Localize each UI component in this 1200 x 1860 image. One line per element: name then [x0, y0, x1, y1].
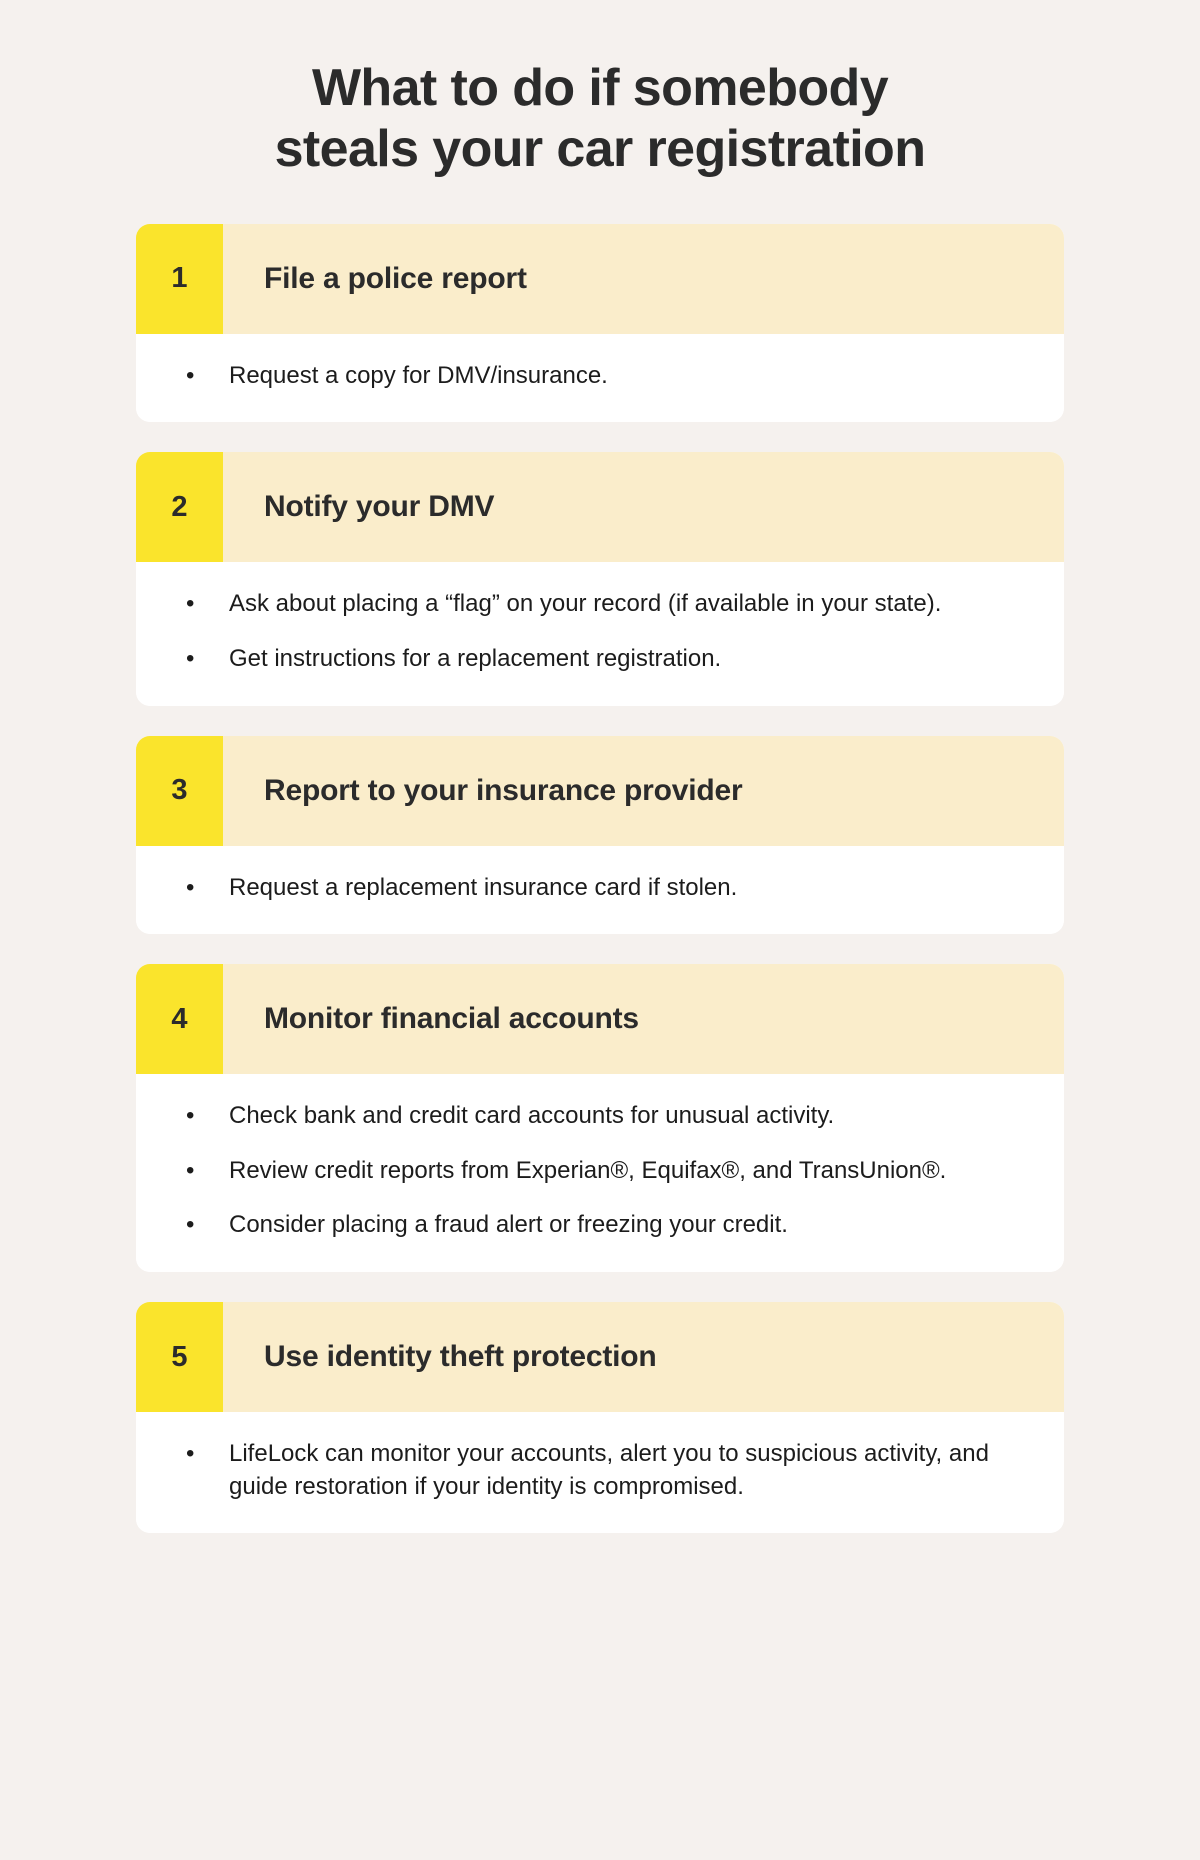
step-number-badge-1: 1 [136, 224, 223, 334]
step-bullet-list-4: •Check bank and credit card accounts for… [180, 1100, 1020, 1242]
bullet-dot-icon: • [186, 1438, 194, 1471]
bullet-dot-icon: • [186, 1209, 194, 1242]
step-card-1: 1 File a police report •Request a copy f… [136, 224, 1064, 423]
bullet-item: •Ask about placing a “flag” on your reco… [180, 588, 1020, 621]
step-number-badge-3: 3 [136, 736, 223, 846]
step-card-2: 2 Notify your DMV •Ask about placing a “… [136, 452, 1064, 705]
bullet-dot-icon: • [186, 360, 194, 393]
bullet-dot-icon: • [186, 872, 194, 905]
infographic-page: What to do if somebody steals your car r… [0, 0, 1200, 1860]
bullet-item: •LifeLock can monitor your accounts, ale… [180, 1438, 1020, 1503]
step-body: •Check bank and credit card accounts for… [136, 1074, 1064, 1272]
bullet-item: •Consider placing a fraud alert or freez… [180, 1209, 1020, 1242]
step-body: •LifeLock can monitor your accounts, ale… [136, 1412, 1064, 1533]
step-card-3: 3 Report to your insurance provider •Req… [136, 736, 1064, 935]
page-title-line-1: What to do if somebody [100, 58, 1100, 119]
step-title-1: File a police report [223, 224, 1064, 334]
step-header: 2 Notify your DMV [136, 452, 1064, 562]
step-body: •Ask about placing a “flag” on your reco… [136, 562, 1064, 705]
step-card-5: 5 Use identity theft protection •LifeLoc… [136, 1302, 1064, 1533]
page-title: What to do if somebody steals your car r… [0, 0, 1200, 180]
step-number-badge-5: 5 [136, 1302, 223, 1412]
step-header: 3 Report to your insurance provider [136, 736, 1064, 846]
bullet-text: LifeLock can monitor your accounts, aler… [229, 1440, 989, 1500]
step-bullet-list-5: •LifeLock can monitor your accounts, ale… [180, 1438, 1020, 1503]
step-body: •Request a copy for DMV/insurance. [136, 334, 1064, 423]
bullet-dot-icon: • [186, 588, 194, 621]
bullet-item: •Get instructions for a replacement regi… [180, 643, 1020, 676]
bullet-dot-icon: • [186, 643, 194, 676]
step-title-5: Use identity theft protection [223, 1302, 1064, 1412]
step-header: 5 Use identity theft protection [136, 1302, 1064, 1412]
step-number-badge-2: 2 [136, 452, 223, 562]
bullet-text: Get instructions for a replacement regis… [229, 645, 721, 672]
bullet-text: Check bank and credit card accounts for … [229, 1102, 834, 1129]
step-title-2: Notify your DMV [223, 452, 1064, 562]
bullet-item: •Request a copy for DMV/insurance. [180, 360, 1020, 393]
page-title-line-2: steals your car registration [100, 119, 1100, 180]
bullet-text: Consider placing a fraud alert or freezi… [229, 1211, 788, 1238]
step-header: 4 Monitor financial accounts [136, 964, 1064, 1074]
bullet-text: Ask about placing a “flag” on your recor… [229, 590, 941, 617]
step-title-4: Monitor financial accounts [223, 964, 1064, 1074]
step-bullet-list-2: •Ask about placing a “flag” on your reco… [180, 588, 1020, 675]
bullet-text: Request a replacement insurance card if … [229, 874, 737, 901]
step-title-3: Report to your insurance provider [223, 736, 1064, 846]
bullet-dot-icon: • [186, 1155, 194, 1188]
step-body: •Request a replacement insurance card if… [136, 846, 1064, 935]
bullet-text: Review credit reports from Experian®, Eq… [229, 1157, 946, 1184]
step-bullet-list-1: •Request a copy for DMV/insurance. [180, 360, 1020, 393]
step-bullet-list-3: •Request a replacement insurance card if… [180, 872, 1020, 905]
bullet-text: Request a copy for DMV/insurance. [229, 362, 608, 389]
bullet-item: •Check bank and credit card accounts for… [180, 1100, 1020, 1133]
bullet-dot-icon: • [186, 1100, 194, 1133]
bullet-item: •Review credit reports from Experian®, E… [180, 1155, 1020, 1188]
step-number-badge-4: 4 [136, 964, 223, 1074]
bullet-item: •Request a replacement insurance card if… [180, 872, 1020, 905]
step-header: 1 File a police report [136, 224, 1064, 334]
step-card-4: 4 Monitor financial accounts •Check bank… [136, 964, 1064, 1272]
steps-list: 1 File a police report •Request a copy f… [0, 180, 1200, 1534]
